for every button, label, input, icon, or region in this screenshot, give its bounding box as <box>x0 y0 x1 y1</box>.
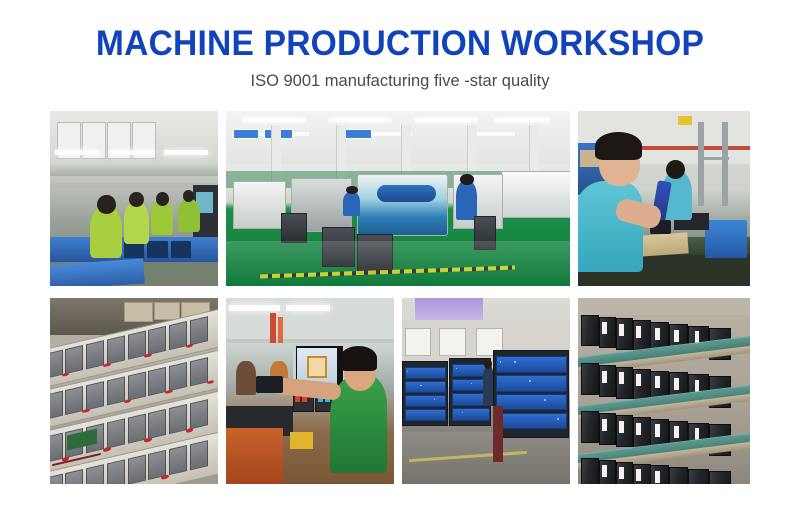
assembly-line-scene <box>50 111 218 286</box>
technician-soldering-scene <box>578 111 750 286</box>
page-subtitle: ISO 9001 manufacturing five -star qualit… <box>0 72 800 90</box>
photo-gallery: Workers in green uniforms assembling pro… <box>50 111 750 484</box>
aging-cabinets-scene <box>402 298 570 484</box>
photo-battery-test-racks[interactable]: Rows of grey battery modules mounted in … <box>50 298 218 484</box>
gallery-row-1: Workers in green uniforms assembling pro… <box>50 111 750 286</box>
battery-test-racks-scene <box>50 298 218 484</box>
workshop-banner: MACHINE PRODUCTION WORKSHOP ISO 9001 man… <box>0 0 800 520</box>
photo-assembly-line[interactable]: Workers in green uniforms assembling pro… <box>50 111 218 286</box>
battery-storage-shelves-scene <box>578 298 750 484</box>
smt-workshop-scene <box>226 111 570 286</box>
photo-battery-storage-shelves[interactable]: Shelves stacked with black battery units… <box>578 298 750 484</box>
photo-smt-workshop[interactable]: Wide view of SMT machine workshop with g… <box>226 111 570 286</box>
page-title: MACHINE PRODUCTION WORKSHOP <box>16 26 784 63</box>
test-station-operator-scene <box>226 298 394 484</box>
photo-aging-cabinets[interactable]: Blue battery aging and charging cabinets… <box>402 298 570 484</box>
photo-technician-soldering[interactable]: Technician in cyan polo shirt operating … <box>578 111 750 286</box>
banner-header: MACHINE PRODUCTION WORKSHOP ISO 9001 man… <box>0 0 800 90</box>
gallery-row-2: Rows of grey battery modules mounted in … <box>50 298 750 484</box>
photo-test-station-operator[interactable]: Operator in green shirt at a test statio… <box>226 298 394 484</box>
